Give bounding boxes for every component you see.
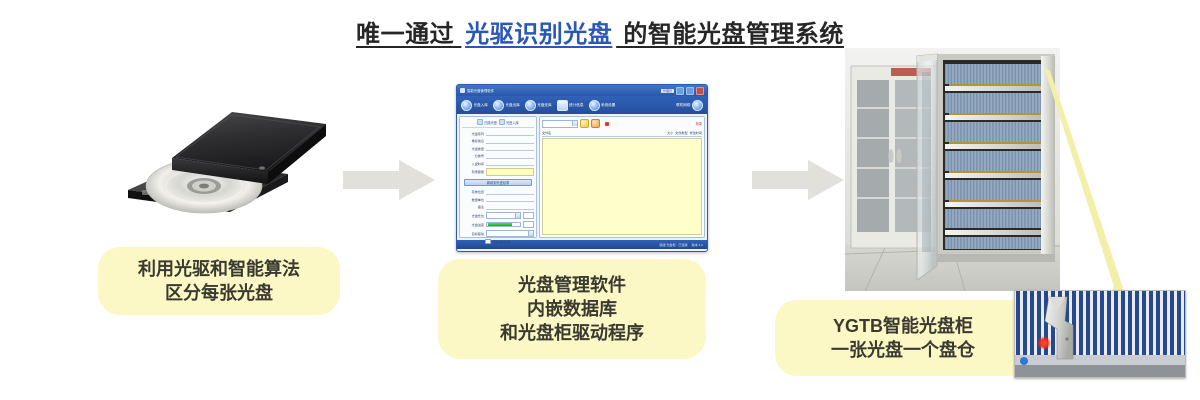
column-header: 修改时间 bbox=[690, 130, 702, 135]
software-titlebar: 智能光盘管理软件 管理员 bbox=[457, 85, 707, 96]
column-header: 文件类型 bbox=[675, 130, 687, 135]
target-drive-select[interactable] bbox=[486, 230, 534, 238]
gear-icon bbox=[589, 100, 600, 111]
panel-tabs[interactable]: 扫描光盘 光盘入库 bbox=[462, 119, 534, 128]
arrow-drive-to-software bbox=[343, 158, 435, 202]
progress-row: 光盘进度 bbox=[462, 221, 534, 229]
field-label: 光盘进度 bbox=[462, 222, 484, 227]
field-row[interactable]: 光盘类型 bbox=[462, 145, 534, 151]
page-title: 唯一通过 光驱识别光盘 的智能光盘管理系统 bbox=[0, 14, 1200, 49]
field-label: 光盘序列 bbox=[462, 131, 484, 136]
field-row[interactable]: 光盘序列 bbox=[462, 130, 534, 136]
statistics-icon bbox=[557, 100, 568, 111]
network-icon bbox=[692, 100, 703, 111]
auto-detect-checkbox[interactable]: 自动识别光盘 bbox=[462, 239, 534, 245]
field-type-input[interactable] bbox=[486, 145, 534, 151]
field-row[interactable]: 存放位置 bbox=[462, 189, 534, 195]
slide-canvas: 唯一通过 光驱识别光盘 的智能光盘管理系统 bbox=[0, 0, 1200, 400]
field-location-input[interactable] bbox=[486, 189, 534, 195]
arrow-software-to-cabinet bbox=[752, 158, 844, 202]
progress-stepper[interactable] bbox=[523, 221, 534, 229]
file-list-area[interactable] bbox=[542, 138, 702, 235]
page-title-text: 唯一通过 光驱识别光盘 的智能光盘管理系统 bbox=[356, 21, 844, 48]
file-toolbar[interactable]: 刻录 bbox=[542, 119, 702, 128]
toolbar-label: 统计信息 bbox=[569, 103, 583, 108]
burn-action[interactable]: 刻录 bbox=[696, 121, 702, 126]
tab-scan-disc[interactable]: 扫描光盘 bbox=[477, 119, 497, 125]
tab-label: 扫描光盘 bbox=[484, 120, 497, 125]
field-capacity-input[interactable] bbox=[486, 168, 534, 176]
disc-out-icon bbox=[493, 100, 504, 111]
software-window[interactable]: 智能光盘管理软件 管理员 光盘入库 光盘出库 光盘还库 bbox=[456, 84, 708, 252]
drive-select-row[interactable]: 目标驱动 bbox=[462, 230, 534, 238]
folder-icon[interactable] bbox=[580, 119, 589, 128]
software-left-panel[interactable]: 扫描光盘 光盘入库 光盘序列 卷标信息 光盘类型 bbox=[459, 116, 537, 238]
current-user-badge: 管理员 bbox=[661, 89, 674, 93]
toolbar-label: 联机网络 bbox=[676, 103, 690, 108]
checkbox-label: 自动识别光盘 bbox=[492, 240, 510, 244]
path-select[interactable] bbox=[542, 120, 578, 128]
app-logo-icon bbox=[460, 88, 465, 93]
callout-drive: 利用光驱和智能算法 区分每张光盘 bbox=[98, 247, 340, 315]
toolbar-label: 光盘出库 bbox=[505, 103, 519, 108]
maximize-button[interactable] bbox=[686, 87, 694, 95]
column-header: 大小 bbox=[667, 130, 673, 135]
window-controls[interactable]: 管理员 bbox=[661, 87, 704, 95]
field-label: 卷标信息 bbox=[462, 138, 484, 143]
field-label: 存放位置 bbox=[462, 189, 484, 194]
column-header: 文件名 bbox=[542, 130, 665, 135]
field-row[interactable]: 刻录容量 bbox=[462, 168, 534, 176]
field-label: 刻录容量 bbox=[462, 169, 484, 174]
software-toolbar[interactable]: 光盘入库 光盘出库 光盘还库 统计信息 系统设置 联机网络 bbox=[457, 96, 707, 114]
record-icon bbox=[605, 122, 609, 126]
field-label: 目标驱动 bbox=[462, 231, 484, 236]
field-remark-input[interactable] bbox=[486, 204, 534, 210]
slot-select[interactable] bbox=[486, 212, 521, 220]
tab-disc-in[interactable]: 光盘入库 bbox=[499, 119, 519, 125]
field-serial-input[interactable] bbox=[486, 130, 534, 136]
app-title: 智能光盘管理软件 bbox=[467, 88, 494, 93]
close-button[interactable] bbox=[696, 87, 704, 95]
slot-detail-inset-photo bbox=[1014, 290, 1186, 378]
status-version: 版本 1.0 bbox=[692, 242, 703, 247]
callout-software: 光盘管理软件 内嵌数据库 和光盘柜驱动程序 bbox=[438, 259, 706, 359]
toolbar-label: 光盘还库 bbox=[537, 103, 551, 108]
toolbar-item-disc-return[interactable]: 光盘还库 bbox=[523, 99, 554, 112]
toolbar-item-disc-in[interactable]: 光盘入库 bbox=[459, 99, 490, 112]
page-title-tail: 的智能光盘管理系统 bbox=[616, 21, 844, 48]
callout-cabinet: YGTB智能光盘柜 一张光盘一个盘仓 bbox=[775, 300, 1031, 376]
file-list-header: 文件名 大小 文件类型 修改时间 bbox=[542, 130, 702, 137]
burn-label: 刻录 bbox=[696, 121, 702, 126]
disc-in-icon bbox=[461, 100, 472, 111]
checkbox-box-icon bbox=[485, 239, 491, 245]
toolbar-item-network[interactable]: 联机网络 bbox=[674, 99, 705, 112]
scan-icon bbox=[477, 119, 483, 125]
disc-cabinet-photo bbox=[845, 48, 1060, 291]
field-unit-input[interactable] bbox=[486, 196, 534, 202]
page-title-lead: 唯一通过 bbox=[356, 21, 461, 48]
status-connection: 就绪 光盘柜 - 已连接 bbox=[659, 242, 687, 247]
field-label: 分类号 bbox=[462, 153, 484, 158]
field-row[interactable]: 分类号 bbox=[462, 153, 534, 159]
optical-drive-photo bbox=[112, 98, 336, 220]
disc-return-icon bbox=[525, 100, 536, 111]
toolbar-item-settings[interactable]: 系统设置 bbox=[587, 99, 618, 112]
toolbar-label: 系统设置 bbox=[601, 103, 615, 108]
field-row[interactable]: 卷标信息 bbox=[462, 138, 534, 144]
field-label: 光盘类型 bbox=[462, 146, 484, 151]
disc-progress-bar bbox=[486, 222, 521, 228]
disc-in-small-icon bbox=[499, 119, 505, 125]
toolbar-item-statistics[interactable]: 统计信息 bbox=[555, 99, 586, 112]
field-intime-input[interactable] bbox=[486, 160, 534, 166]
toolbar-item-disc-out[interactable]: 光盘出库 bbox=[491, 99, 522, 112]
page-title-accent: 光驱识别光盘 bbox=[461, 21, 616, 48]
open-folder-icon[interactable] bbox=[591, 119, 600, 128]
minimize-button[interactable] bbox=[676, 87, 684, 95]
field-row[interactable]: 入盘时间 bbox=[462, 160, 534, 166]
field-label: 备注 bbox=[462, 204, 484, 209]
software-title-left: 智能光盘管理软件 bbox=[460, 88, 494, 93]
toolbar-label: 光盘入库 bbox=[474, 103, 488, 108]
tab-label: 光盘入库 bbox=[506, 120, 519, 125]
field-label: 入盘时间 bbox=[462, 161, 484, 166]
add-to-catalog-button[interactable]: 新增到光盘目录 bbox=[464, 179, 532, 186]
slot-selector-row[interactable]: 光盘仓位 bbox=[462, 212, 534, 220]
field-row[interactable]: 数量单位 bbox=[462, 196, 534, 202]
field-row[interactable]: 备注 bbox=[462, 204, 534, 210]
field-label: 光盘仓位 bbox=[462, 213, 484, 218]
software-body: 扫描光盘 光盘入库 光盘序列 卷标信息 光盘类型 bbox=[457, 114, 707, 240]
software-right-panel[interactable]: 刻录 文件名 大小 文件类型 修改时间 bbox=[539, 116, 705, 238]
field-classno-input[interactable] bbox=[486, 153, 534, 159]
refresh-slot-button[interactable] bbox=[523, 212, 534, 220]
field-label: 数量单位 bbox=[462, 197, 484, 202]
field-volume-input[interactable] bbox=[486, 138, 534, 144]
